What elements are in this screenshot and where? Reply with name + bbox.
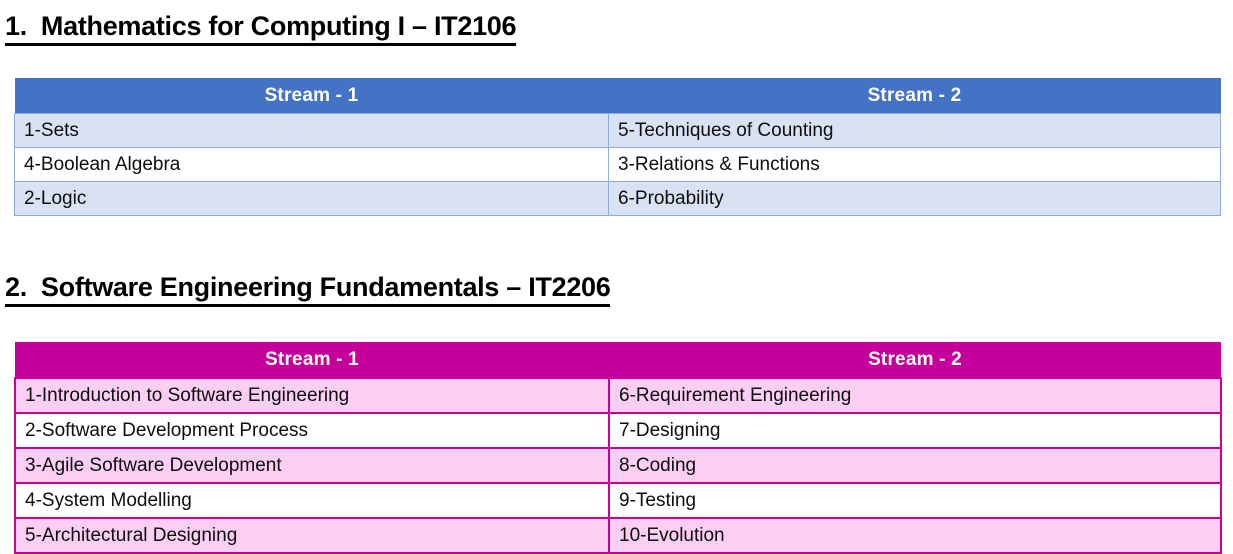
table-row: 4-Boolean Algebra 3-Relations & Function… (15, 148, 1221, 182)
section-1-number: 1. (5, 11, 27, 41)
table-cell: 5-Techniques of Counting (609, 114, 1221, 148)
table-cell: 6-Probability (609, 182, 1221, 216)
table-cell: 3-Relations & Functions (609, 148, 1221, 182)
section-2-number: 2. (5, 272, 27, 302)
table-row: 4-System Modelling 9-Testing (15, 483, 1221, 518)
section-2-title: Software Engineering Fundamentals – IT22… (41, 272, 611, 302)
table-2-header-stream-1: Stream - 1 (15, 342, 609, 378)
table-1-header-stream-1: Stream - 1 (15, 78, 609, 114)
table-cell: 9-Testing (609, 483, 1221, 518)
table-cell: 8-Coding (609, 448, 1221, 483)
table-cell: 7-Designing (609, 413, 1221, 448)
section-1-title: Mathematics for Computing I – IT2106 (41, 11, 516, 41)
table-row: 5-Architectural Designing 10-Evolution (15, 518, 1221, 553)
table-row: 3-Agile Software Development 8-Coding (15, 448, 1221, 483)
table-2-header-stream-2: Stream - 2 (609, 342, 1221, 378)
table-row: 2-Software Development Process 7-Designi… (15, 413, 1221, 448)
section-2-heading-wrapper: 2.Software Engineering Fundamentals – IT… (0, 272, 610, 307)
section-1-heading: 1.Mathematics for Computing I – IT2106 (5, 11, 516, 46)
table-cell: 4-System Modelling (15, 483, 609, 518)
table-row: 1-Sets 5-Techniques of Counting (15, 114, 1221, 148)
table-cell: 4-Boolean Algebra (15, 148, 609, 182)
table-cell: 10-Evolution (609, 518, 1221, 553)
table-cell: 1-Introduction to Software Engineering (15, 378, 609, 413)
section-1-heading-wrapper: 1.Mathematics for Computing I – IT2106 (0, 11, 516, 46)
table-cell: 5-Architectural Designing (15, 518, 609, 553)
table-header-row: Stream - 1 Stream - 2 (15, 342, 1221, 378)
table-header-row: Stream - 1 Stream - 2 (15, 78, 1221, 114)
table-cell: 3-Agile Software Development (15, 448, 609, 483)
table-row: 1-Introduction to Software Engineering 6… (15, 378, 1221, 413)
table-1-header-stream-2: Stream - 2 (609, 78, 1221, 114)
table-cell: 1-Sets (15, 114, 609, 148)
table-row: 2-Logic 6-Probability (15, 182, 1221, 216)
software-engineering-topics-table: Stream - 1 Stream - 2 1-Introduction to … (14, 342, 1222, 554)
table-cell: 6-Requirement Engineering (609, 378, 1221, 413)
document-page: 1.Mathematics for Computing I – IT2106 S… (0, 0, 1233, 550)
table-cell: 2-Logic (15, 182, 609, 216)
section-2-heading: 2.Software Engineering Fundamentals – IT… (5, 272, 610, 307)
mathematics-topics-table: Stream - 1 Stream - 2 1-Sets 5-Technique… (14, 78, 1221, 216)
table-cell: 2-Software Development Process (15, 413, 609, 448)
